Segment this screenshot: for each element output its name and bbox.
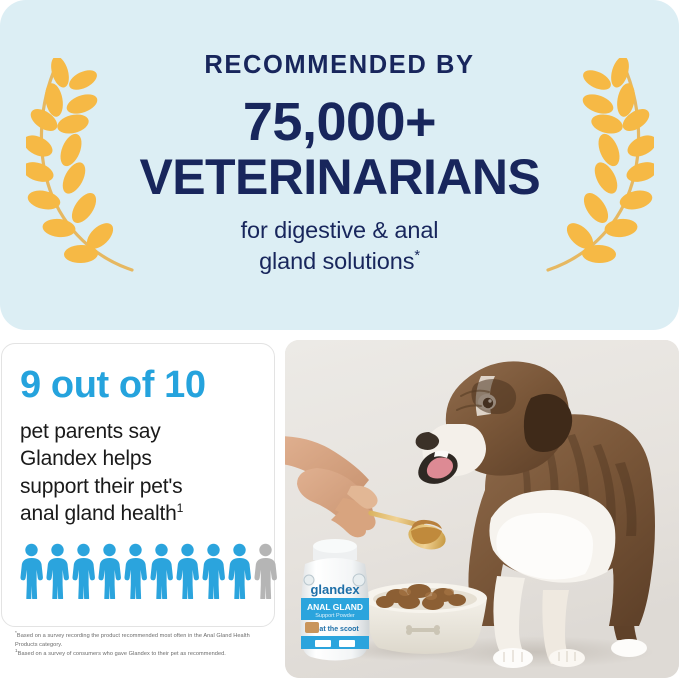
banner-text-block: RECOMMENDED BY 75,000+ VETERINARIANS for… <box>138 53 542 277</box>
stat-body-line1: pet parents say <box>20 420 161 443</box>
laurel-wreath-right-icon <box>542 58 654 273</box>
food-bowl <box>363 583 487 654</box>
svg-text:ANAL GLAND: ANAL GLAND <box>307 602 363 612</box>
recommended-by-banner: RECOMMENDED BY 75,000+ VETERINARIANS for… <box>0 0 679 330</box>
banner-subline-marker: * <box>414 248 420 264</box>
banner-subline-line2: gland solutions <box>259 248 414 274</box>
person-icon-filled <box>202 543 225 599</box>
stat-body-line2: Glandex helps <box>20 447 152 470</box>
stat-body-marker: 1 <box>177 501 184 515</box>
person-icon-filled <box>176 543 199 599</box>
product-lifestyle-photo: glandex ANAL GLAND Support Powder beat t… <box>285 340 679 678</box>
stat-body-line3: support their pet's <box>20 475 182 498</box>
svg-text:glandex: glandex <box>310 582 360 597</box>
person-icon-filled <box>228 543 251 599</box>
person-icon-filled <box>98 543 121 599</box>
person-icon-filled <box>124 543 147 599</box>
banner-subline: for digestive & anal gland solutions* <box>140 215 540 277</box>
footnote-text: Based on a survey of consumers who gave … <box>18 651 226 657</box>
banner-number: 75,000+ <box>140 95 540 151</box>
footnote-2: 1Based on a survey of consumers who gave… <box>15 650 273 659</box>
banner-subline-line1: for digestive & anal <box>241 217 439 243</box>
person-icon-filled <box>46 543 69 599</box>
banner-kicker: RECOMMENDED BY <box>140 53 540 79</box>
pictogram-chart <box>20 543 258 599</box>
stat-headline: 9 out of 10 <box>20 366 258 404</box>
person-icon-filled <box>72 543 95 599</box>
stat-body-line4: anal gland health <box>20 502 177 525</box>
stat-body: pet parents say Glandex helps support th… <box>20 418 258 527</box>
stat-card: 9 out of 10 pet parents say Glandex help… <box>1 343 275 627</box>
banner-word: VETERINARIANS <box>140 151 540 203</box>
person-icon-filled <box>150 543 173 599</box>
laurel-wreath-left-icon <box>26 58 138 273</box>
footnote-text: Based on a survey recording the product … <box>15 633 250 648</box>
footnotes: *Based on a survey recording the product… <box>15 632 273 659</box>
person-icon-filled <box>20 543 43 599</box>
footnote-1: *Based on a survey recording the product… <box>15 632 273 650</box>
person-icon-empty <box>254 543 277 599</box>
svg-text:Support Powder: Support Powder <box>315 613 355 619</box>
